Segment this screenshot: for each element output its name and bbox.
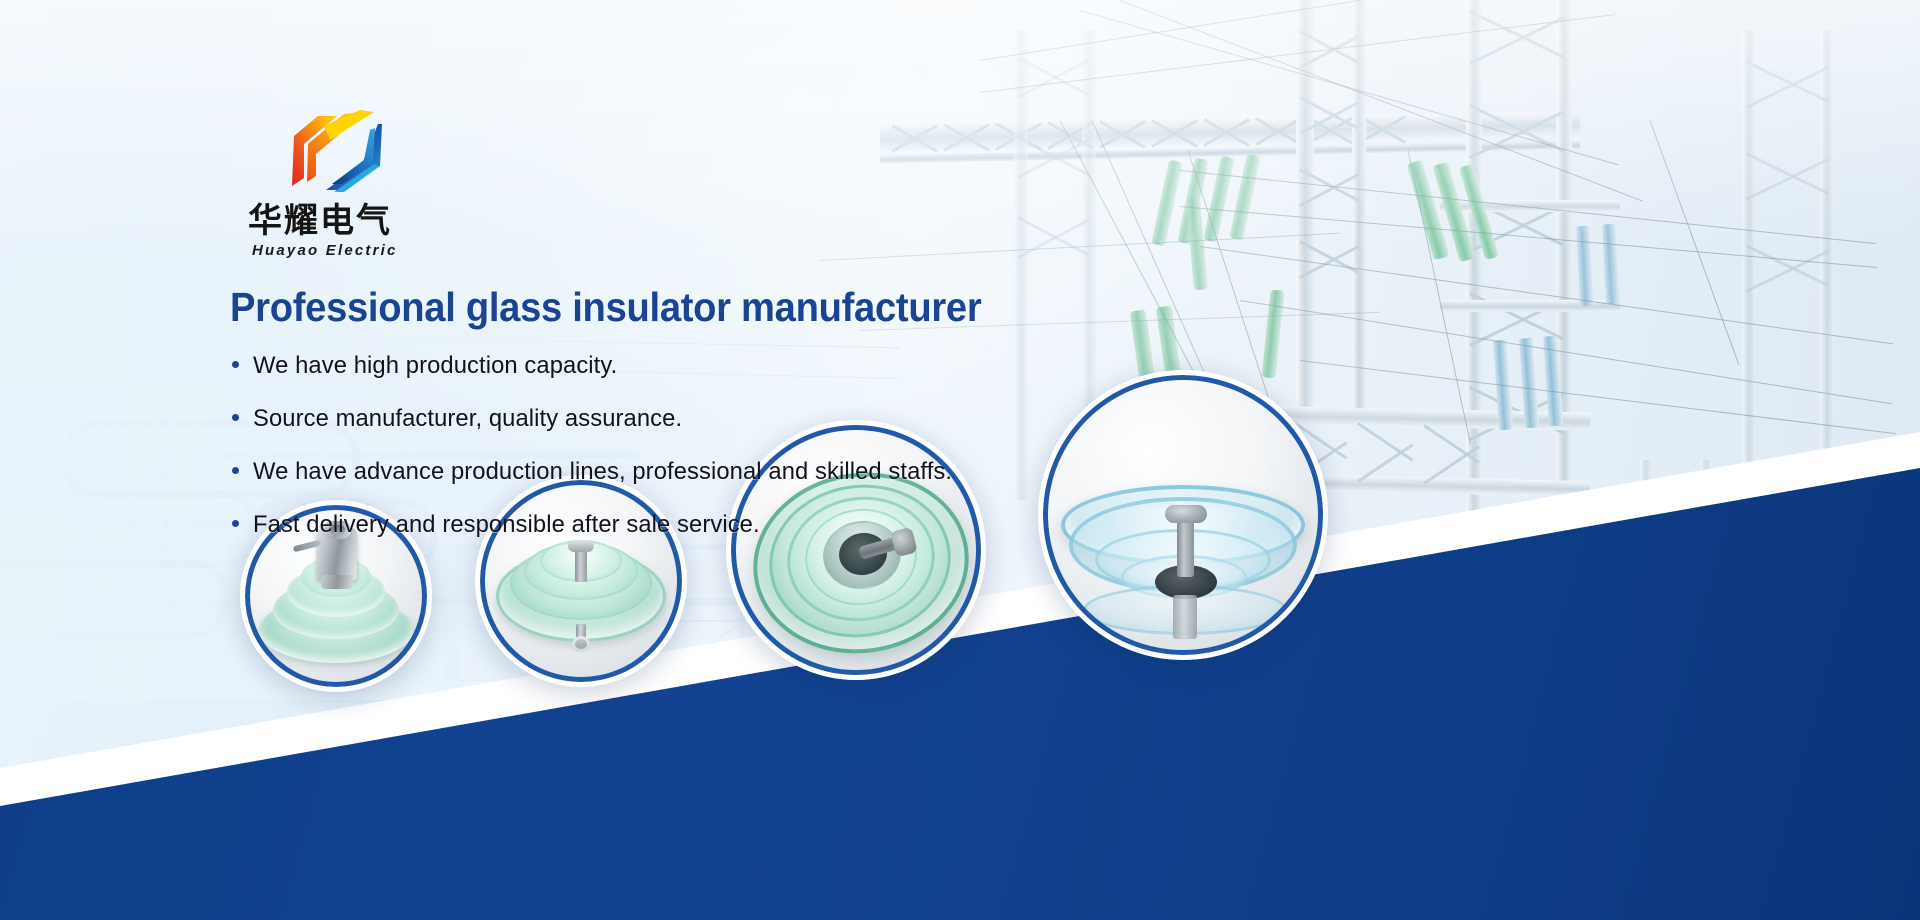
list-item-label: We have advance production lines, profes… xyxy=(253,458,952,486)
bullet-dot-icon xyxy=(232,414,239,421)
promo-banner: 华耀电气 Huayao Electric Professional glass … xyxy=(0,0,1920,920)
list-item-label: Source manufacturer, quality assurance. xyxy=(253,405,682,433)
brand-name-cn: 华耀电气 xyxy=(248,204,528,238)
list-item: Fast delivery and responsible after sale… xyxy=(232,511,974,539)
list-item-label: Fast delivery and responsible after sale… xyxy=(253,511,760,539)
selling-points-list: We have high production capacity. Source… xyxy=(232,352,974,564)
huayao-swoosh-logo-icon xyxy=(274,104,394,200)
bullet-dot-icon xyxy=(232,361,239,368)
product-image-4 xyxy=(1047,379,1319,651)
product-thumbnail-4[interactable] xyxy=(1038,370,1328,660)
page-title: Professional glass insulator manufacture… xyxy=(230,284,981,331)
list-item: We have high production capacity. xyxy=(232,352,974,380)
list-item: We have advance production lines, profes… xyxy=(232,458,974,486)
list-item: Source manufacturer, quality assurance. xyxy=(232,405,974,433)
bullet-dot-icon xyxy=(232,467,239,474)
bullet-dot-icon xyxy=(232,520,239,527)
list-item-label: We have high production capacity. xyxy=(253,352,617,380)
brand-name-en: Huayao Electric xyxy=(252,242,528,259)
brand-logo[interactable]: 华耀电气 Huayao Electric xyxy=(228,104,528,259)
